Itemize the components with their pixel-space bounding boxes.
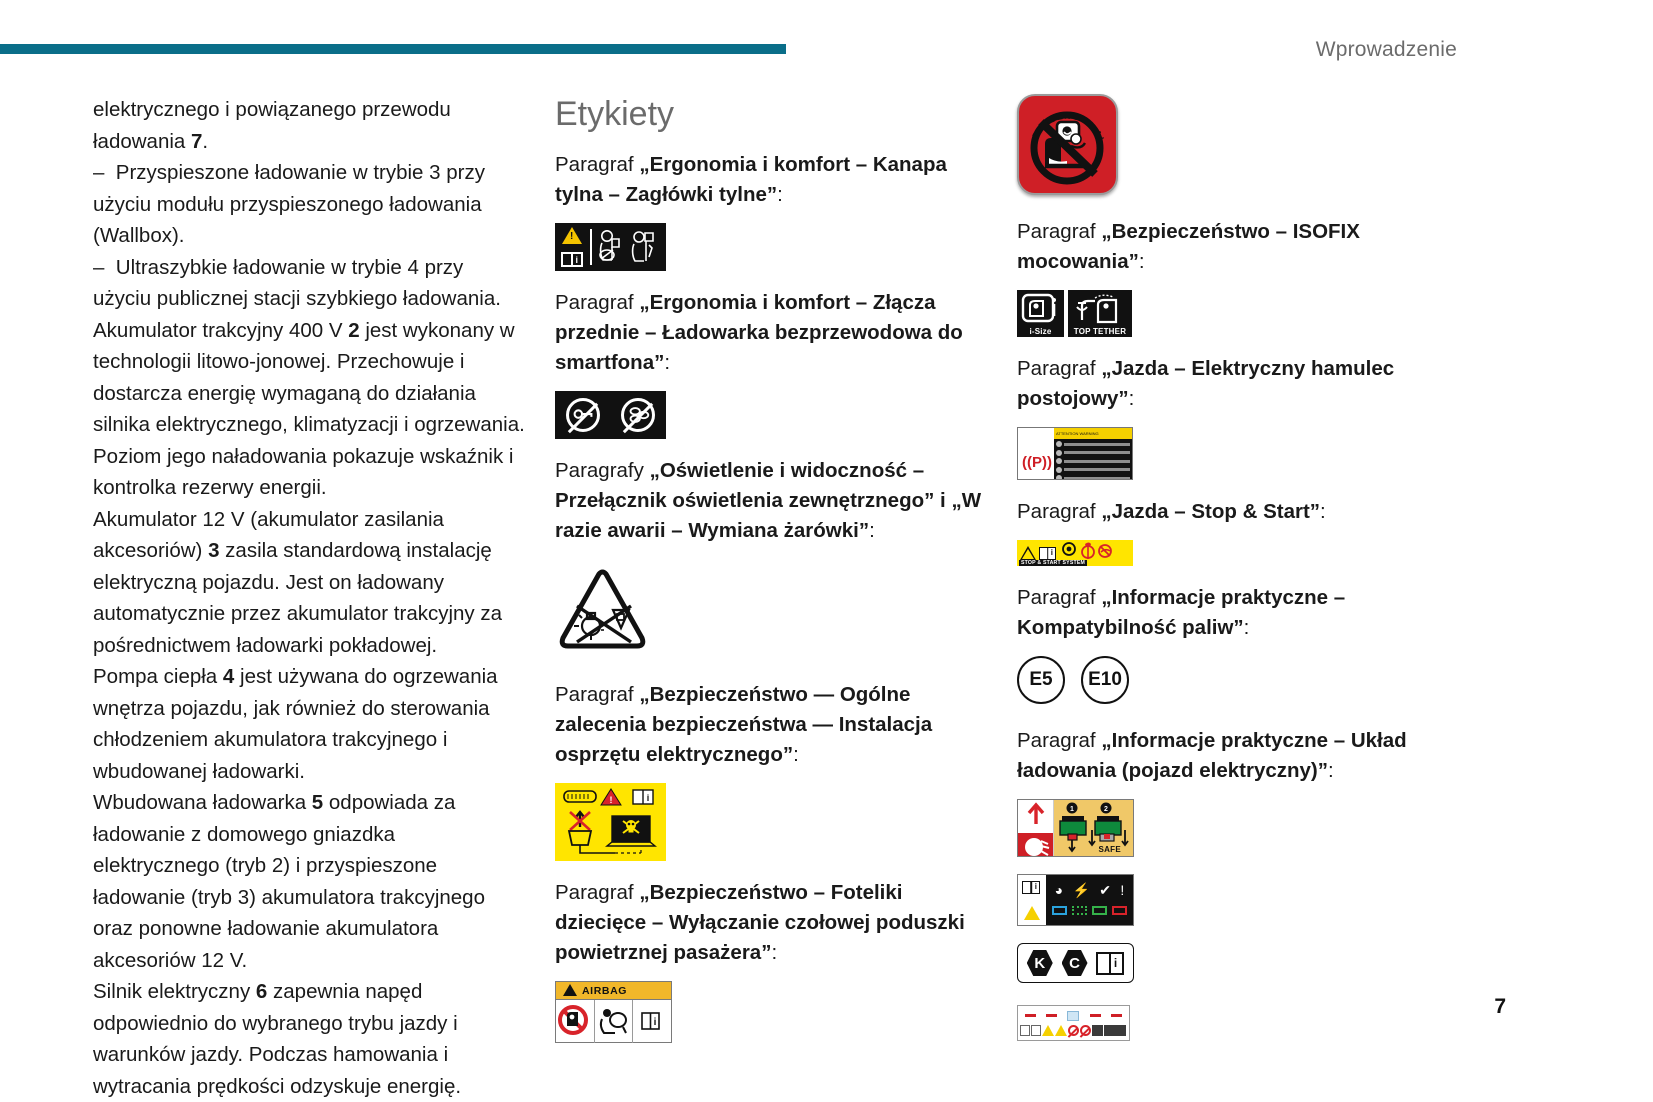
ref-tail-2: : <box>664 351 670 374</box>
body-paragraph-6: Pompa ciepła 4 jest używana do ogrzewani… <box>93 661 525 787</box>
led-blue-swatch <box>1052 906 1067 915</box>
left-text-column: elektrycznego i powiązanego przewodu ład… <box>93 94 525 1102</box>
top-tether-caption: TOP TETHER <box>1068 327 1132 336</box>
airbag-label-body: i <box>556 1000 671 1043</box>
paragraph-reference-isofix: Paragraf „Bezpieczeństwo – ISOFIX mocowa… <box>1017 217 1457 277</box>
head-warning-cell <box>1018 833 1054 857</box>
ref-tail-r4: : <box>1244 616 1250 639</box>
no-tool-icon <box>1090 1014 1101 1017</box>
headrest-rear-bench-label <box>555 223 666 271</box>
prohibition-circle-icon <box>1068 1025 1079 1036</box>
epb-row <box>1056 458 1130 464</box>
led-red-swatch <box>1112 906 1127 915</box>
charge-steps-artwork: 1 2 <box>1054 800 1134 857</box>
warning-manual-cell <box>555 223 588 271</box>
page-header-title: Wprowadzenie <box>1316 38 1457 62</box>
charging-procedure-label: 1 2 <box>1017 799 1134 857</box>
ref-tail-r5: : <box>1328 759 1334 782</box>
ref-tail-1: : <box>777 183 783 206</box>
label-charging-procedure: 1 2 <box>1017 799 1457 857</box>
strip-row-bottom <box>1020 1024 1127 1038</box>
check-icon: ✔ <box>1099 883 1111 897</box>
middle-column: Etykiety Paragraf „Ergonomia i komfort –… <box>555 94 995 1060</box>
no-smoking-crossed-icon <box>1025 1014 1036 1017</box>
led-green-swatch <box>1092 906 1107 915</box>
manual-book-icon <box>1022 881 1040 894</box>
paragraph-reference-headrest: Paragraf „Ergonomia i komfort – Kanapa t… <box>555 150 995 210</box>
red-up-arrow-icon <box>1018 800 1054 828</box>
ref-tail-r1: : <box>1139 250 1145 273</box>
paragraph-reference-electrical: Paragraf „Bezpieczeństwo — Ogólne zalece… <box>555 680 995 770</box>
electric-hazard-triangle-icon <box>1024 906 1040 920</box>
epb-row <box>1056 467 1130 473</box>
epb-row <box>1056 441 1130 447</box>
body-paragraph-2: – Przyspieszone ładowanie w trybie 3 prz… <box>93 157 525 252</box>
no-spray-icon <box>1111 1014 1122 1017</box>
warning-triangle-icon <box>563 984 577 996</box>
lightning-icon: ⚡ <box>1073 883 1090 897</box>
manual-book-icon <box>1096 952 1124 975</box>
electrical-equipment-artwork: ! i <box>555 783 666 861</box>
ref-tail-3: : <box>869 519 875 542</box>
ref-quoted-r3: „Jazda – Stop & Start” <box>1101 500 1320 523</box>
ref-lead-r5: Paragraf <box>1017 729 1101 752</box>
epb-row <box>1056 475 1130 480</box>
electric-hazard-triangle-icon <box>1055 1025 1067 1036</box>
ref-lead-5: Paragraf <box>555 881 639 904</box>
charge-state-glyph-row: ◕ ⚡ ✔ ! <box>1046 879 1133 900</box>
isofix-labels: i-Size TOP TETHER <box>1017 290 1457 337</box>
body-paragraph-7: Wbudowana ładowarka 5 odpowiada za ładow… <box>93 787 525 976</box>
no-coins-icon <box>621 398 655 432</box>
ref-lead-4: Paragraf <box>555 683 639 706</box>
epb-yellow-header: ATTENTION WARNING <box>1054 428 1132 439</box>
headrest-down-cell <box>594 223 627 271</box>
paragraph-reference-epb: Paragraf „Jazda – Elektryczny hamulec po… <box>1017 354 1457 414</box>
charge-state-color-row <box>1046 900 1133 921</box>
wireless-charger-label <box>555 391 666 439</box>
svg-text:i: i <box>654 1017 657 1028</box>
up-arrow-cell <box>1018 800 1054 833</box>
right-column: PASSENGER AIRBAG Paragraf „Bezpieczeństw… <box>1017 94 1457 1058</box>
isize-caption: i-Size <box>1017 327 1064 336</box>
ref-tail-4: : <box>793 743 799 766</box>
epb-header-text: ATTENTION WARNING <box>1054 428 1132 439</box>
isize-label: i-Size <box>1017 290 1064 337</box>
ref-tail-5: : <box>771 941 777 964</box>
headrest-down-icon <box>598 229 624 265</box>
paragraph-reference-stop-start: Paragraf „Jazda – Stop & Start”: <box>1017 497 1457 527</box>
headrest-up-icon <box>631 229 657 265</box>
charge-indicator-label: ◕ ⚡ ✔ ! <box>1017 874 1134 926</box>
airbag-label-header: AIRBAG <box>556 982 671 1000</box>
connector-k-badge: K <box>1027 950 1053 976</box>
manual-book-icon <box>561 252 583 267</box>
front-passenger-airbag-label: AIRBAG <box>555 981 672 1043</box>
ref-lead-r2: Paragraf <box>1017 357 1101 380</box>
epb-left-panel: ((P)) <box>1018 428 1054 479</box>
water-hazard-icon <box>1067 1011 1079 1021</box>
ref-lead-2: Paragraf <box>555 291 639 314</box>
parking-brake-p-icon: ((P)) <box>1022 454 1052 471</box>
battery-hazard-icon <box>1115 1025 1126 1036</box>
warning-triangle-icon <box>562 227 582 244</box>
stop-start-label: STOP & START SYSTEM <box>1017 540 1133 566</box>
label-charge-indicator: ◕ ⚡ ✔ ! <box>1017 874 1457 926</box>
airbag-deploy-icon <box>595 1000 629 1042</box>
label-passenger-airbag-roundel: PASSENGER AIRBAG <box>1017 94 1457 195</box>
top-tether-label: TOP TETHER <box>1068 290 1132 337</box>
warning-triangle-icon <box>1020 546 1036 560</box>
label-electrical-equipment: ! i <box>555 783 995 861</box>
label-stop-start: STOP & START SYSTEM <box>1017 540 1457 566</box>
label-electric-parking-brake: ((P)) ATTENTION WARNING <box>1017 427 1457 480</box>
label-wireless-charger <box>555 391 995 439</box>
section-heading-etykiety: Etykiety <box>555 94 995 134</box>
clock-icon: ◕ <box>1055 883 1063 897</box>
manual-book-cell: i <box>633 1000 671 1043</box>
header-accent-bar <box>0 44 786 54</box>
body-paragraph-5: Akumulator 12 V (akumulator zasilania ak… <box>93 504 525 662</box>
ref-lead-3: Paragrafy <box>555 459 650 482</box>
fuel-e10-badge: E10 <box>1081 656 1129 704</box>
page-number: 7 <box>1494 995 1506 1019</box>
svg-text:!: ! <box>610 795 613 805</box>
passenger-airbag-roundel: PASSENGER AIRBAG <box>1017 94 1118 195</box>
divider <box>590 229 592 265</box>
no-child-seat-icon <box>556 1000 590 1042</box>
paragraph-reference-wireless-charger: Paragraf „Ergonomia i komfort – Złącza p… <box>555 288 995 378</box>
exclamation-icon: ! <box>1120 883 1124 897</box>
charge-steps-panel: 1 2 <box>1054 800 1134 856</box>
svg-text:2: 2 <box>1104 806 1108 813</box>
charge-warning-panel <box>1018 800 1054 856</box>
epb-instruction-rows <box>1056 441 1130 477</box>
charge-indicator-warning-panel <box>1018 875 1046 925</box>
paragraph-reference-charging-system: Paragraf „Informacje praktyczne – Układ … <box>1017 726 1457 786</box>
passenger-airbag-artwork: PASSENGER AIRBAG <box>1019 96 1116 193</box>
paragraph-reference-child-seat-airbag: Paragraf „Bezpieczeństwo – Foteliki dzie… <box>555 878 995 968</box>
label-kc-connector: K C <box>1017 943 1457 983</box>
connector-c-badge: C <box>1062 950 1088 976</box>
ref-lead-r4: Paragraf <box>1017 586 1101 609</box>
fuel-compatibility-labels: E5 E10 <box>1017 656 1457 704</box>
paragraph-reference-fuel: Paragraf „Informacje praktyczne – Kompat… <box>1017 583 1457 643</box>
label-headrest-rear-bench <box>555 223 995 271</box>
fuel-e5-badge: E5 <box>1017 656 1065 704</box>
ref-tail-r2: : <box>1129 387 1135 410</box>
no-child-seat-cell <box>556 1000 595 1043</box>
ref-lead-r1: Paragraf <box>1017 220 1101 243</box>
ref-lead-r3: Paragraf <box>1017 500 1101 523</box>
body-paragraph-3: – Ultraszybkie ładowanie w trybie 4 przy… <box>93 252 525 315</box>
svg-text:1: 1 <box>1070 806 1074 813</box>
engine-warning-icons <box>1061 540 1113 562</box>
body-paragraph-4: Akumulator trakcyjny 400 V 2 jest wykona… <box>93 315 525 504</box>
prohibition-circle-icon-2 <box>1080 1025 1091 1036</box>
electric-parking-brake-label: ((P)) ATTENTION WARNING <box>1017 427 1133 480</box>
electrical-equipment-label: ! i <box>555 783 666 861</box>
triangle-lamp-crossed-icon <box>555 566 650 654</box>
kc-connector-label: K C <box>1017 943 1134 983</box>
airbag-label-title: AIRBAG <box>582 985 627 997</box>
label-front-passenger-airbag: AIRBAG <box>555 981 995 1043</box>
lift-icon <box>1104 1025 1115 1036</box>
airbag-deploy-cell <box>595 1000 634 1043</box>
head-impact-icon <box>1018 833 1054 857</box>
no-flame-crossed-icon <box>1046 1014 1057 1017</box>
tool-icon <box>1092 1025 1103 1036</box>
headrest-up-cell <box>627 223 660 271</box>
charge-indicator-states: ◕ ⚡ ✔ ! <box>1046 875 1133 925</box>
epb-row <box>1056 450 1130 456</box>
label-headlamp-warning <box>555 566 995 654</box>
warning-triangle-icon <box>1042 1025 1054 1036</box>
ref-tail-r3: : <box>1320 500 1326 523</box>
manual-book-icon <box>1039 547 1056 560</box>
ref-lead-1: Paragraf <box>555 153 639 176</box>
body-paragraph-8: Silnik elektryczny 6 zapewnia napęd odpo… <box>93 976 525 1102</box>
misc-warning-strip <box>1017 1005 1130 1041</box>
warning-triangle-icon <box>1021 431 1039 446</box>
manual-book-icon <box>1020 1025 1030 1036</box>
label-warning-icon-strip <box>1017 1005 1457 1041</box>
label-isofix: i-Size TOP TETHER <box>1017 290 1457 337</box>
svg-text:i: i <box>647 793 650 803</box>
led-green-blinking-swatch <box>1072 906 1087 915</box>
info-book-icon <box>1031 1025 1041 1036</box>
no-keys-icon <box>566 398 600 432</box>
body-paragraph-1: elektrycznego i powiązanego przewodu ład… <box>93 94 525 157</box>
safe-caption: SAFE <box>1098 845 1121 854</box>
stop-start-system-caption: STOP & START SYSTEM <box>1019 560 1087 566</box>
label-fuel-compatibility: E5 E10 <box>1017 656 1457 704</box>
strip-row-top <box>1020 1009 1127 1023</box>
paragraph-reference-lighting: Paragrafy „Oświetlenie i widoczność – Pr… <box>555 456 995 546</box>
manual-book-icon: i <box>633 1000 667 1042</box>
